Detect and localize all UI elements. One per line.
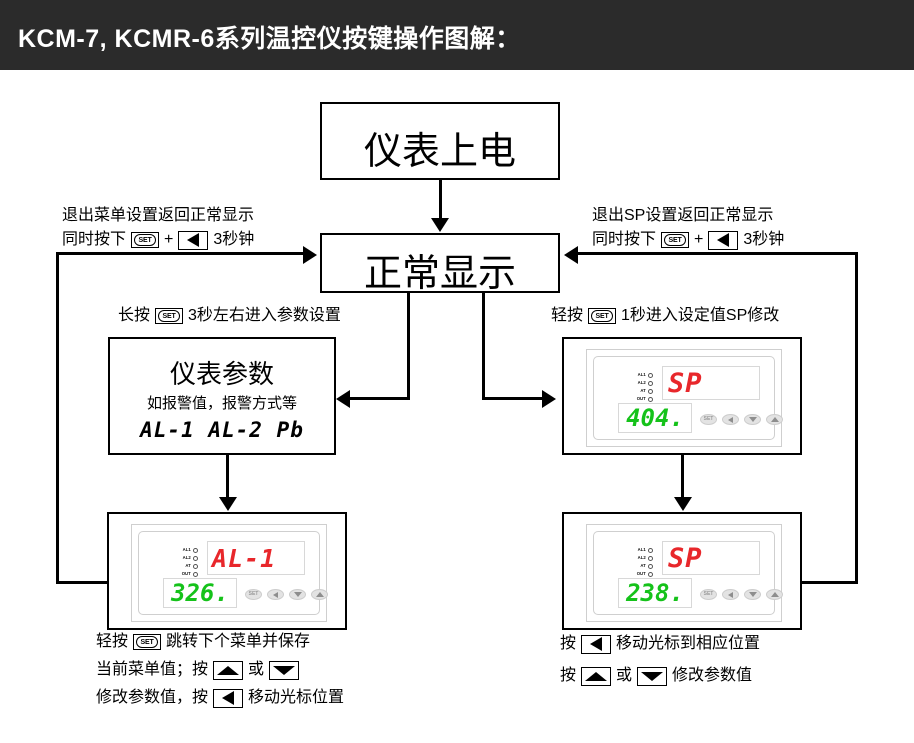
instrument-al1-326-lower-display: 326.: [163, 578, 237, 608]
left-triangle-glyph: [590, 637, 602, 651]
panel-set-label: SET: [704, 417, 714, 422]
page-header: KCM-7, KCMR-6系列温控仪按键操作图解：: [0, 0, 914, 70]
edge-power-to-normal: [439, 180, 442, 220]
panel-left-icon: [728, 417, 733, 423]
instrument-al1-326-bezel: AL1 AL2 AT OUT: [138, 531, 320, 615]
instrument-sp-404: AL1 AL2 AT OUT: [586, 349, 782, 447]
annotation-left-return-plus: +: [164, 228, 173, 252]
left-arrow-key-icon: [178, 231, 208, 250]
annotation-bl-l2-pre: 当前菜单值；按: [96, 656, 208, 684]
led-al1: AL1: [181, 546, 198, 554]
led-at: AT: [181, 562, 198, 570]
edge-right-return-top: [578, 252, 858, 255]
led-out: OUT: [181, 570, 198, 578]
annotation-left-return-line2-pre: 同时按下: [62, 228, 126, 252]
edge-sp404-to-sp238-vertical: [681, 455, 684, 499]
annotation-right-return-plus: +: [694, 228, 703, 252]
led-at-indicator: [648, 389, 653, 394]
led-out-label: OUT: [636, 570, 646, 578]
instrument-sp-238-bezel: AL1 AL2 AT OUT: [593, 531, 775, 615]
panel-down-icon: [749, 417, 757, 422]
edge-normal-to-params-vertical: [407, 292, 410, 400]
left-triangle-glyph: [717, 233, 729, 247]
set-key-label: SET: [141, 639, 154, 646]
annotation-bl-l3-post: 移动光标位置: [248, 684, 344, 712]
panel-left-icon: [273, 592, 278, 598]
led-out: OUT: [636, 570, 653, 578]
set-key-icon: SET: [155, 308, 183, 324]
led-at-indicator: [648, 564, 653, 569]
led-al1-indicator: [648, 548, 653, 553]
led-al2-label: AL2: [181, 554, 191, 562]
instrument-sp-238-lower-display: 238.: [618, 578, 692, 608]
panel-up-icon: [316, 592, 324, 597]
led-out-label: OUT: [636, 395, 646, 403]
annotation-br-l2-mid: 或: [616, 660, 632, 692]
panel-set-label: SET: [249, 592, 259, 597]
instrument-sp-238-upper-value: SP: [668, 543, 703, 574]
set-key-label: SET: [163, 313, 176, 320]
annotation-br-l2-post: 修改参数值: [672, 660, 752, 692]
annotation-br-l1-pre: 按: [560, 628, 576, 660]
panel-down-icon: [294, 592, 302, 597]
panel-left-button[interactable]: [722, 589, 739, 600]
panel-up-button[interactable]: [311, 589, 328, 600]
annotation-br-l2-pre: 按: [560, 660, 576, 692]
edge-normal-to-sp-horizontal: [482, 397, 543, 400]
led-out-indicator: [648, 572, 653, 577]
node-sp-edit-panel: AL1 AL2 AT OUT: [562, 337, 802, 455]
instrument-sp-238: AL1 AL2 AT OUT: [586, 524, 782, 622]
annotation-enter-sp-post: 1秒进入设定值SP修改: [621, 304, 779, 328]
instrument-al1-326: AL1 AL2 AT OUT: [131, 524, 327, 622]
led-al1-label: AL1: [181, 546, 191, 554]
panel-left-button[interactable]: [267, 589, 284, 600]
led-al2-indicator: [648, 556, 653, 561]
led-out-indicator: [193, 572, 198, 577]
instrument-sp-404-lower-display: 404.: [618, 403, 692, 433]
panel-up-button[interactable]: [766, 589, 783, 600]
instrument-sp-404-upper-display: SP: [662, 366, 760, 400]
instrument-al1-326-button-row[interactable]: SET: [245, 589, 328, 600]
led-al1: AL1: [636, 546, 653, 554]
panel-up-button[interactable]: [766, 414, 783, 425]
up-triangle-glyph: [585, 672, 607, 681]
set-key-label: SET: [669, 237, 682, 244]
flow-diagram-canvas: 仪表上电 正常显示 退出菜单设置返回正常显示 同时按下 SET + 3秒钟 退出…: [0, 70, 914, 743]
annotation-bl-l2-mid: 或: [248, 656, 264, 684]
edge-left-return-vertical: [56, 252, 59, 584]
node-params-subtitle: 如报警值，报警方式等: [110, 392, 334, 413]
node-params-title: 仪表参数: [110, 354, 334, 391]
edge-power-to-normal-arrowhead: [431, 218, 449, 232]
led-al2-indicator: [648, 381, 653, 386]
edge-params-to-al1-vertical: [226, 455, 229, 499]
panel-down-button[interactable]: [744, 414, 761, 425]
node-params-codes: AL-1 AL-2 Pb: [110, 418, 334, 442]
annotation-bottom-right-line1: 按 移动光标到相应位置: [560, 628, 760, 660]
led-al2-label: AL2: [636, 554, 646, 562]
instrument-al1-326-upper-value: AL-1: [212, 544, 276, 573]
set-key-label: SET: [139, 237, 152, 244]
instrument-sp-238-led-group: AL1 AL2 AT OUT: [636, 546, 653, 578]
down-triangle-glyph: [273, 666, 295, 675]
set-key-label: SET: [596, 313, 609, 320]
node-normal-display-label: 正常显示: [322, 242, 558, 297]
led-at-label: AT: [636, 562, 646, 570]
annotation-bottom-left-line3: 修改参数值，按 移动光标位置: [96, 684, 344, 712]
annotation-bottom-right-line2: 按 或 修改参数值: [560, 660, 760, 692]
annotation-right-return-line2-post: 3秒钟: [743, 228, 784, 252]
led-al2: AL2: [636, 379, 653, 387]
panel-set-button[interactable]: SET: [245, 589, 262, 600]
edge-normal-to-sp-arrowhead: [542, 390, 556, 408]
panel-set-label: SET: [704, 592, 714, 597]
edge-sp404-to-sp238-arrowhead: [674, 497, 692, 511]
panel-set-button[interactable]: SET: [700, 589, 717, 600]
up-arrow-key-icon: [581, 667, 611, 686]
left-arrow-key-icon: [581, 635, 611, 654]
set-key-icon: SET: [588, 308, 616, 324]
edge-right-return-arrowhead: [564, 246, 578, 264]
led-al2: AL2: [636, 554, 653, 562]
instrument-sp-404-lower-value: 404.: [626, 404, 684, 432]
led-al1-label: AL1: [636, 546, 646, 554]
led-out: OUT: [636, 395, 653, 403]
led-al1-indicator: [648, 373, 653, 378]
annotation-right-return-line2-pre: 同时按下: [592, 228, 656, 252]
set-key-icon: SET: [131, 232, 159, 248]
down-arrow-key-icon: [269, 661, 299, 680]
instrument-al1-326-lower-value: 326.: [171, 579, 229, 607]
annotation-left-return-line1: 退出菜单设置返回正常显示: [62, 204, 254, 228]
edge-right-return-vertical: [855, 252, 858, 584]
led-al1: AL1: [636, 371, 653, 379]
instrument-sp-404-led-group: AL1 AL2 AT OUT: [636, 371, 653, 403]
annotation-bl-l3-pre: 修改参数值，按: [96, 684, 208, 712]
led-al2: AL2: [181, 554, 198, 562]
annotation-bl-l1-post: 跳转下个菜单并保存: [166, 628, 310, 656]
up-arrow-key-icon: [213, 661, 243, 680]
node-power-on-label: 仪表上电: [322, 120, 558, 175]
node-instrument-params: 仪表参数 如报警值，报警方式等 AL-1 AL-2 Pb: [108, 337, 336, 455]
annotation-bottom-left: 轻按 SET 跳转下个菜单并保存 当前菜单值；按 或 修改参数值，按 移动光标位…: [96, 628, 344, 712]
annotation-enter-params-pre: 长按: [118, 304, 150, 328]
edge-normal-to-params-horizontal: [349, 397, 410, 400]
edge-normal-to-params-arrowhead: [336, 390, 350, 408]
panel-set-button[interactable]: SET: [700, 414, 717, 425]
annotation-bottom-left-line1: 轻按 SET 跳转下个菜单并保存: [96, 628, 344, 656]
annotation-right-return-line2: 同时按下 SET + 3秒钟: [592, 228, 784, 252]
led-al1-indicator: [193, 548, 198, 553]
set-key-icon: SET: [661, 232, 689, 248]
led-al2-label: AL2: [636, 379, 646, 387]
instrument-al1-326-upper-display: AL-1: [207, 541, 305, 575]
panel-up-icon: [771, 417, 779, 422]
left-arrow-key-icon: [213, 689, 243, 708]
annotation-bottom-left-line2: 当前菜单值；按 或: [96, 656, 344, 684]
panel-left-icon: [728, 592, 733, 598]
led-at: AT: [636, 387, 653, 395]
annotation-left-return: 退出菜单设置返回正常显示 同时按下 SET + 3秒钟: [62, 204, 254, 252]
annotation-left-return-line2: 同时按下 SET + 3秒钟: [62, 228, 254, 252]
left-triangle-glyph: [187, 233, 199, 247]
node-al1-panel: AL1 AL2 AT OUT: [107, 512, 347, 630]
annotation-enter-params: 长按 SET 3秒左右进入参数设置: [118, 304, 341, 328]
down-arrow-key-icon: [637, 667, 667, 686]
annotation-br-l1-post: 移动光标到相应位置: [616, 628, 760, 660]
led-at-indicator: [193, 564, 198, 569]
panel-down-icon: [749, 592, 757, 597]
left-arrow-key-icon: [708, 231, 738, 250]
annotation-enter-sp-pre: 轻按: [551, 304, 583, 328]
left-triangle-glyph: [222, 691, 234, 705]
led-at: AT: [636, 562, 653, 570]
node-sp-value-panel: AL1 AL2 AT OUT: [562, 512, 802, 630]
instrument-sp-238-button-row[interactable]: SET: [700, 589, 783, 600]
led-at-label: AT: [636, 387, 646, 395]
node-normal-display: 正常显示: [320, 233, 560, 293]
edge-left-return-top: [56, 252, 304, 255]
instrument-sp-404-bezel: AL1 AL2 AT OUT: [593, 356, 775, 440]
annotation-right-return: 退出SP设置返回正常显示 同时按下 SET + 3秒钟: [592, 204, 784, 252]
instrument-sp-238-upper-display: SP: [662, 541, 760, 575]
annotation-enter-sp: 轻按 SET 1秒进入设定值SP修改: [551, 304, 779, 328]
panel-left-button[interactable]: [722, 414, 739, 425]
instrument-sp-238-lower-value: 238.: [626, 579, 684, 607]
led-al2-indicator: [193, 556, 198, 561]
annotation-right-return-line1: 退出SP设置返回正常显示: [592, 204, 784, 228]
panel-down-button[interactable]: [289, 589, 306, 600]
led-out-label: OUT: [181, 570, 191, 578]
up-triangle-glyph: [217, 666, 239, 675]
annotation-bottom-right: 按 移动光标到相应位置 按 或 修改参数值: [560, 628, 760, 692]
set-key-icon: SET: [133, 634, 161, 650]
page-title: KCM-7, KCMR-6系列温控仪按键操作图解：: [18, 19, 521, 55]
edge-params-to-al1-arrowhead: [219, 497, 237, 511]
node-power-on: 仪表上电: [320, 102, 560, 180]
instrument-sp-404-button-row[interactable]: SET: [700, 414, 783, 425]
edge-left-return-arrowhead: [303, 246, 317, 264]
annotation-left-return-line2-post: 3秒钟: [213, 228, 254, 252]
annotation-enter-params-post: 3秒左右进入参数设置: [188, 304, 341, 328]
led-at-label: AT: [181, 562, 191, 570]
instrument-al1-326-led-group: AL1 AL2 AT OUT: [181, 546, 198, 578]
panel-down-button[interactable]: [744, 589, 761, 600]
led-al1-label: AL1: [636, 371, 646, 379]
edge-normal-to-sp-vertical: [482, 292, 485, 400]
led-out-indicator: [648, 397, 653, 402]
down-triangle-glyph: [641, 672, 663, 681]
instrument-sp-404-upper-value: SP: [668, 368, 703, 399]
annotation-bl-l1-pre: 轻按: [96, 628, 128, 656]
panel-up-icon: [771, 592, 779, 597]
